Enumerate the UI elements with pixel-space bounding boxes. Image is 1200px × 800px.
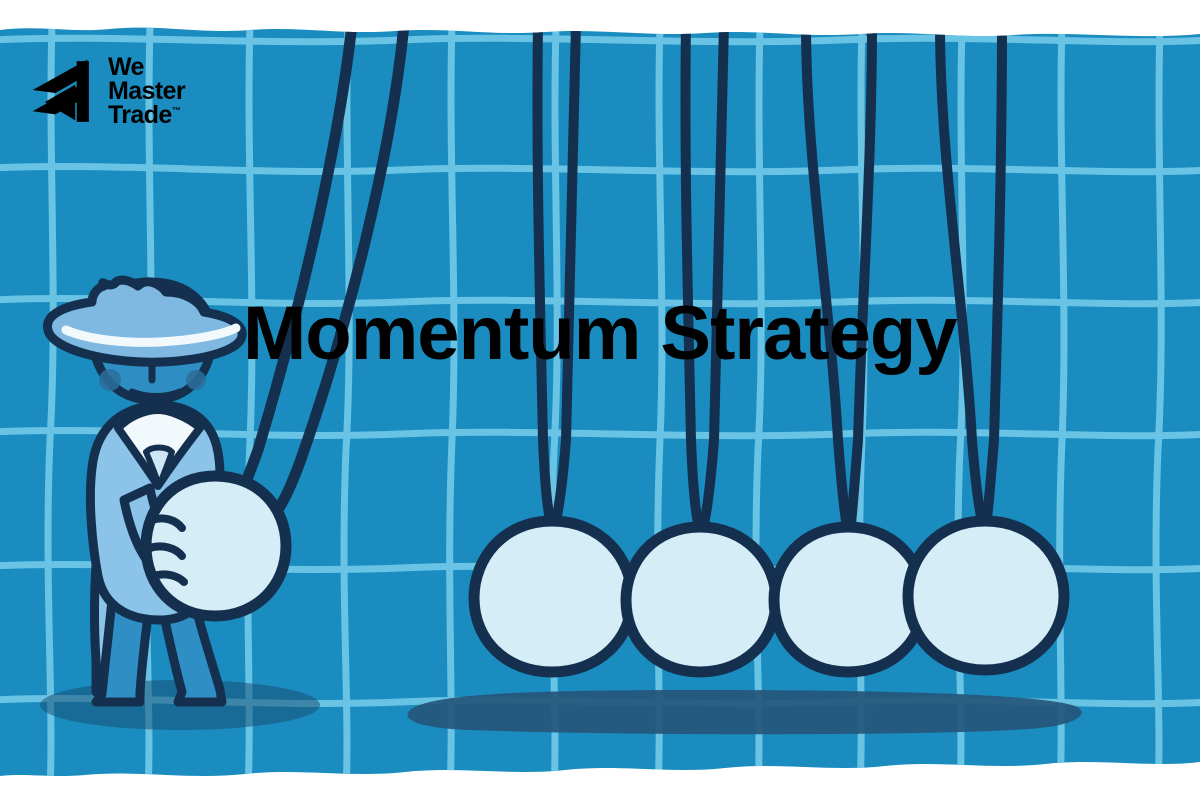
logo-line-2: Master — [108, 79, 185, 103]
cradle-ball-2 — [474, 521, 632, 672]
we-master-trade-arrow-mark-icon — [22, 52, 98, 128]
logo-line-1: We — [108, 55, 185, 79]
logo-line-3-text: Trade — [108, 101, 172, 129]
trademark-symbol: ™ — [172, 106, 181, 116]
brand-logo[interactable]: We Master Trade™ — [22, 52, 185, 128]
brand-logo-wordmark: We Master Trade™ — [108, 55, 185, 128]
character-cheek-right — [186, 370, 206, 390]
momentum-strategy-banner: We Master Trade™ Momentum Strategy — [0, 0, 1200, 800]
logo-line-3: Trade™ — [108, 103, 185, 127]
cradle-ball-5 — [908, 521, 1064, 670]
cradle-ball-3 — [626, 527, 776, 672]
page-title: Momentum Strategy — [243, 296, 957, 372]
cradle-ground-shadow — [408, 690, 1082, 734]
cradle-ball-4 — [774, 527, 924, 672]
character-cheek-left — [99, 369, 121, 391]
